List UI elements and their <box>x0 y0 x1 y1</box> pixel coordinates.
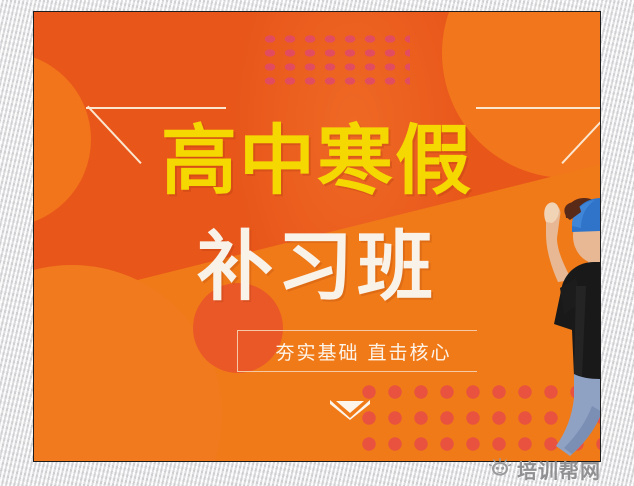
page-root: 高中寒假 补习班 夯实基础 直击核心 <box>0 0 634 486</box>
watermark-text: 培训帮网 <box>517 455 601 484</box>
dot-grid-top <box>258 30 410 86</box>
banner-title-line2: 补习班 <box>34 226 600 308</box>
bracket-bar <box>86 107 226 109</box>
watermark: 培训帮网 <box>489 455 601 484</box>
subtitle-box: 夯实基础 直击核心 <box>237 330 477 372</box>
chevron-down-icon <box>328 398 372 420</box>
banner-subtitle: 夯实基础 直击核心 <box>275 338 451 365</box>
培训帮网-logo-icon <box>489 458 511 482</box>
bracket-bar <box>476 107 600 109</box>
banner-title-line1: 高中寒假 <box>34 120 600 202</box>
banner-canvas: 高中寒假 补习班 夯实基础 直击核心 <box>34 12 600 461</box>
promo-banner: 高中寒假 补习班 夯实基础 直击核心 <box>33 11 601 462</box>
